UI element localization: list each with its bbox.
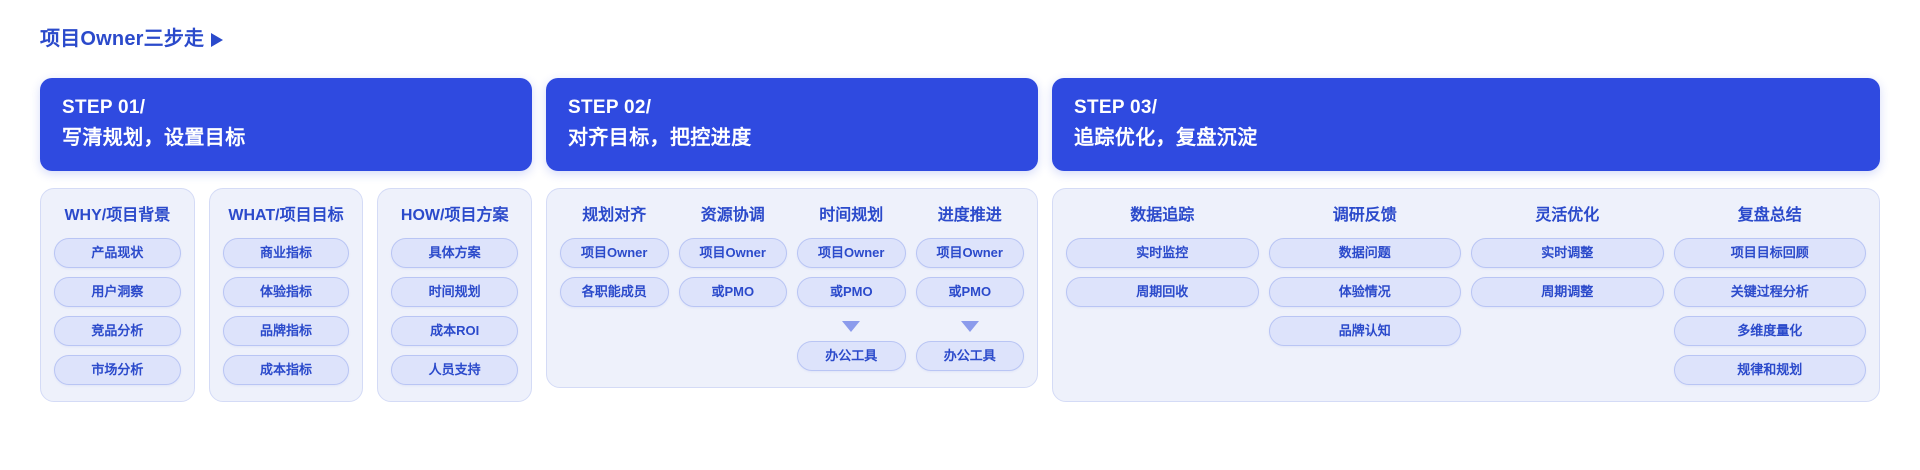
step-number: STEP 03/ (1074, 95, 1858, 121)
group-column: 数据追踪实时监控周期回收 (1066, 205, 1259, 385)
pill-item[interactable]: 实时监控 (1066, 238, 1259, 268)
group-column: 规划对齐项目Owner各职能成员 (560, 205, 669, 371)
step-number: STEP 01/ (62, 95, 510, 121)
pill-item[interactable]: 商业指标 (223, 238, 350, 268)
pill-item[interactable]: 或PMO (916, 277, 1025, 307)
pill-item[interactable]: 成本ROI (391, 316, 518, 346)
group-column: HOW/项目方案具体方案时间规划成本ROI人员支持 (391, 205, 518, 385)
pill-item[interactable]: 周期调整 (1471, 277, 1664, 307)
step-banner-2[interactable]: STEP 02/对齐目标，把控进度 (546, 78, 1038, 171)
group-title: HOW/项目方案 (401, 205, 509, 227)
group-column: WHAT/项目目标商业指标体验指标品牌指标成本指标 (223, 205, 350, 385)
step-card-3: STEP 03/追踪优化，复盘沉淀数据追踪实时监控周期回收调研反馈数据问题体验情… (1052, 78, 1880, 448)
group-panel: 规划对齐项目Owner各职能成员资源协调项目Owner或PMO时间规划项目Own… (546, 188, 1038, 388)
pill-item[interactable]: 具体方案 (391, 238, 518, 268)
group-column: WHY/项目背景产品现状用户洞察竞品分析市场分析 (54, 205, 181, 385)
group-column: 进度推进项目Owner或PMO办公工具 (916, 205, 1025, 371)
pill-item[interactable]: 项目Owner (560, 238, 669, 268)
group-panel: WHAT/项目目标商业指标体验指标品牌指标成本指标 (209, 188, 364, 402)
group-title: 调研反馈 (1333, 205, 1397, 227)
pill-item[interactable]: 项目Owner (916, 238, 1025, 268)
group-title: 时间规划 (819, 205, 883, 227)
step-groups-2: 规划对齐项目Owner各职能成员资源协调项目Owner或PMO时间规划项目Own… (546, 188, 1038, 388)
pill-item[interactable]: 人员支持 (391, 355, 518, 385)
step-banner-3[interactable]: STEP 03/追踪优化，复盘沉淀 (1052, 78, 1880, 171)
group-title: WHY/项目背景 (64, 205, 170, 227)
group-column: 复盘总结项目目标回顾关键过程分析多维度量化规律和规划 (1674, 205, 1867, 385)
page-title: 项目Owner三步走 (40, 26, 204, 52)
pill-tool[interactable]: 办公工具 (916, 341, 1025, 371)
pill-item[interactable]: 或PMO (797, 277, 906, 307)
pill-item[interactable]: 竞品分析 (54, 316, 181, 346)
group-title: 资源协调 (701, 205, 765, 227)
pill-item[interactable]: 项目Owner (679, 238, 788, 268)
step-subtitle: 对齐目标，把控进度 (568, 123, 1016, 153)
pill-item[interactable]: 品牌认知 (1269, 316, 1462, 346)
pill-item[interactable]: 数据问题 (1269, 238, 1462, 268)
pill-item[interactable]: 多维度量化 (1674, 316, 1867, 346)
pill-item[interactable]: 品牌指标 (223, 316, 350, 346)
step-subtitle: 追踪优化，复盘沉淀 (1074, 123, 1858, 153)
group-column: 调研反馈数据问题体验情况品牌认知 (1269, 205, 1462, 385)
pill-item[interactable]: 实时调整 (1471, 238, 1664, 268)
step-number: STEP 02/ (568, 95, 1016, 121)
pill-tool[interactable]: 办公工具 (797, 341, 906, 371)
pill-item[interactable]: 时间规划 (391, 277, 518, 307)
group-column: 资源协调项目Owner或PMO (679, 205, 788, 371)
step-subtitle: 写清规划，设置目标 (62, 123, 510, 153)
pill-item[interactable]: 各职能成员 (560, 277, 669, 307)
pill-item[interactable]: 成本指标 (223, 355, 350, 385)
pill-item[interactable]: 市场分析 (54, 355, 181, 385)
group-title: 灵活优化 (1535, 205, 1599, 227)
pill-item[interactable]: 用户洞察 (54, 277, 181, 307)
infographic-page: 项目Owner三步走 STEP 01/写清规划，设置目标WHY/项目背景产品现状… (0, 0, 1920, 470)
group-title: 数据追踪 (1130, 205, 1194, 227)
pill-item[interactable]: 体验情况 (1269, 277, 1462, 307)
pill-item[interactable]: 规律和规划 (1674, 355, 1867, 385)
group-panel: WHY/项目背景产品现状用户洞察竞品分析市场分析 (40, 188, 195, 402)
pill-item[interactable]: 项目目标回顾 (1674, 238, 1867, 268)
group-panel: HOW/项目方案具体方案时间规划成本ROI人员支持 (377, 188, 532, 402)
group-column: 灵活优化实时调整周期调整 (1471, 205, 1664, 385)
play-triangle-icon[interactable] (211, 33, 223, 47)
step-groups-3: 数据追踪实时监控周期回收调研反馈数据问题体验情况品牌认知灵活优化实时调整周期调整… (1052, 188, 1880, 402)
group-title: WHAT/项目目标 (228, 205, 343, 227)
arrow-down-icon (961, 321, 979, 332)
pill-item[interactable]: 体验指标 (223, 277, 350, 307)
group-title: 复盘总结 (1738, 205, 1802, 227)
step-card-2: STEP 02/对齐目标，把控进度规划对齐项目Owner各职能成员资源协调项目O… (546, 78, 1038, 448)
step-card-1: STEP 01/写清规划，设置目标WHY/项目背景产品现状用户洞察竞品分析市场分… (40, 78, 532, 448)
group-title: 规划对齐 (582, 205, 646, 227)
page-header: 项目Owner三步走 (40, 26, 223, 52)
pill-item[interactable]: 或PMO (679, 277, 788, 307)
arrow-down-icon (842, 321, 860, 332)
steps-row: STEP 01/写清规划，设置目标WHY/项目背景产品现状用户洞察竞品分析市场分… (40, 78, 1880, 448)
group-column: 时间规划项目Owner或PMO办公工具 (797, 205, 906, 371)
step-banner-1[interactable]: STEP 01/写清规划，设置目标 (40, 78, 532, 171)
step-groups-1: WHY/项目背景产品现状用户洞察竞品分析市场分析WHAT/项目目标商业指标体验指… (40, 188, 532, 402)
pill-item[interactable]: 项目Owner (797, 238, 906, 268)
pill-item[interactable]: 周期回收 (1066, 277, 1259, 307)
pill-item[interactable]: 关键过程分析 (1674, 277, 1867, 307)
group-panel: 数据追踪实时监控周期回收调研反馈数据问题体验情况品牌认知灵活优化实时调整周期调整… (1052, 188, 1880, 402)
pill-item[interactable]: 产品现状 (54, 238, 181, 268)
group-title: 进度推进 (938, 205, 1002, 227)
